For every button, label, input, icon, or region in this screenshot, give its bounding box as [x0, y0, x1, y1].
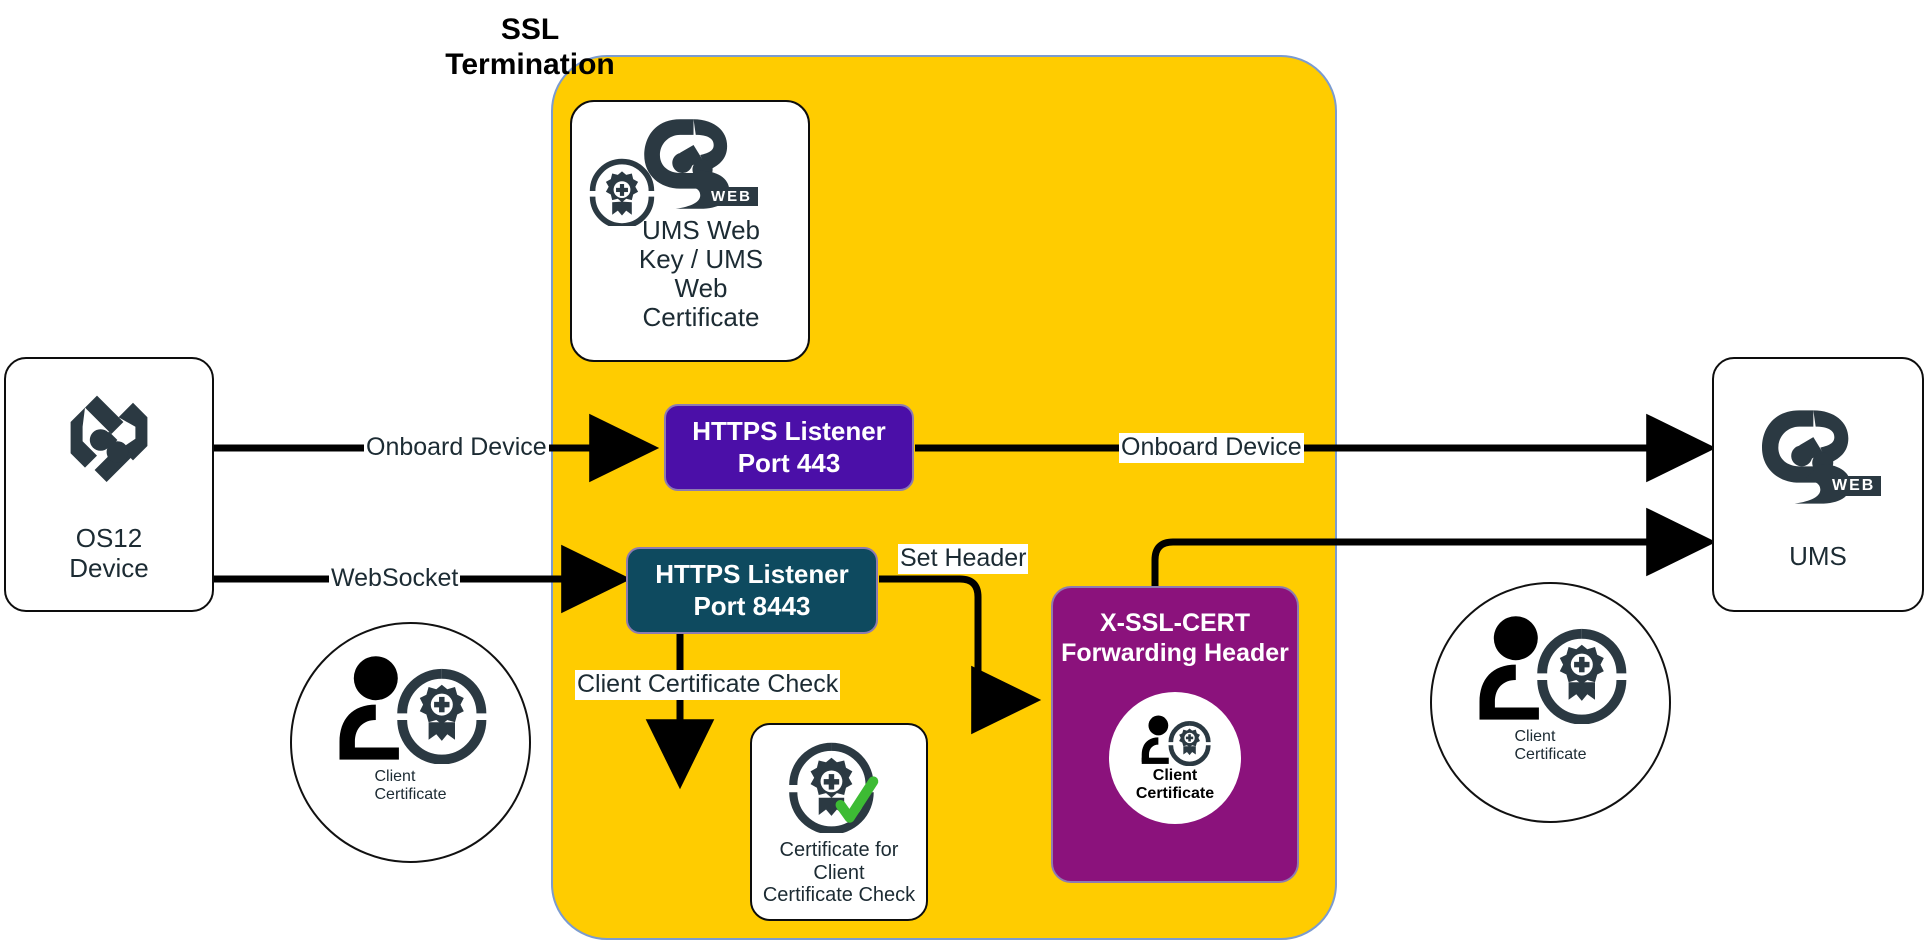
cert-check-line2: Certificate Check [752, 884, 926, 906]
https-443-line1: HTTPS Listener [692, 416, 886, 447]
diagram-canvas: SSL Termination [0, 0, 1928, 944]
xsslcert-client-certificate-badge: Client Certificate [1109, 692, 1241, 824]
ums-web-key-line3: Web [639, 274, 763, 303]
ums-web-key-line4: Certificate [639, 303, 763, 332]
node-client-certificate-right[interactable]: Client Certificate [1430, 582, 1671, 823]
node-client-certificate-left[interactable]: Client Certificate [290, 622, 531, 863]
https-8443-line2: Port 8443 [655, 591, 849, 622]
cert-check-line1: Certificate for Client [752, 839, 926, 884]
client-cert-left-line1: Client [374, 768, 446, 786]
connector-layer [0, 0, 1928, 944]
person-certificate-icon [323, 654, 499, 764]
ums-web-key-line2: Key / UMS [639, 245, 763, 274]
client-cert-right-line2: Certificate [1514, 746, 1586, 764]
edge-label-client-certificate-check: Client Certificate Check [575, 670, 840, 700]
os12-logo-icon [49, 386, 169, 506]
edge-label-websocket: WebSocket [329, 564, 460, 594]
certificate-check-icon [786, 737, 886, 833]
xsslcert-line1: X-SSL-CERT [1053, 608, 1297, 638]
certificate-icon [587, 156, 657, 226]
https-8443-line1: HTTPS Listener [655, 559, 849, 590]
xsslcert-badge-line2: Certificate [1136, 785, 1214, 803]
edge-label-onboard-device-out: Onboard Device [1119, 433, 1304, 463]
node-https-listener-8443[interactable]: HTTPS Listener Port 8443 [626, 547, 878, 634]
edge-set-header [879, 579, 1030, 700]
node-os12-device[interactable]: OS12 Device [4, 357, 214, 612]
node-xsslcert-forwarding-header[interactable]: X-SSL-CERT Forwarding Header [1051, 586, 1299, 883]
person-certificate-icon [1463, 614, 1639, 724]
xsslcert-line2: Forwarding Header [1053, 638, 1297, 668]
https-443-line2: Port 443 [692, 448, 886, 479]
node-ums-web-key[interactable]: WEB [570, 100, 810, 362]
edge-label-set-header: Set Header [898, 544, 1028, 574]
node-https-listener-443[interactable]: HTTPS Listener Port 443 [664, 404, 914, 491]
ums-web-badge: WEB [1826, 476, 1881, 496]
xsslcert-badge-line1: Client [1136, 767, 1214, 785]
edge-label-onboard-device-in: Onboard Device [364, 433, 549, 463]
client-cert-left-line2: Certificate [374, 786, 446, 804]
os12-label-line2: Device [69, 554, 148, 583]
ums-web-logo-icon [1748, 398, 1888, 516]
person-certificate-icon [1132, 714, 1218, 766]
ums-label: UMS [1789, 542, 1847, 571]
client-cert-right-line1: Client [1514, 728, 1586, 746]
node-ums[interactable]: WEB UMS [1712, 357, 1924, 612]
node-certificate-for-client-check[interactable]: Certificate for Client Certificate Check [750, 723, 928, 921]
os12-label-line1: OS12 [69, 524, 148, 553]
ums-web-key-badge: WEB [705, 187, 758, 206]
